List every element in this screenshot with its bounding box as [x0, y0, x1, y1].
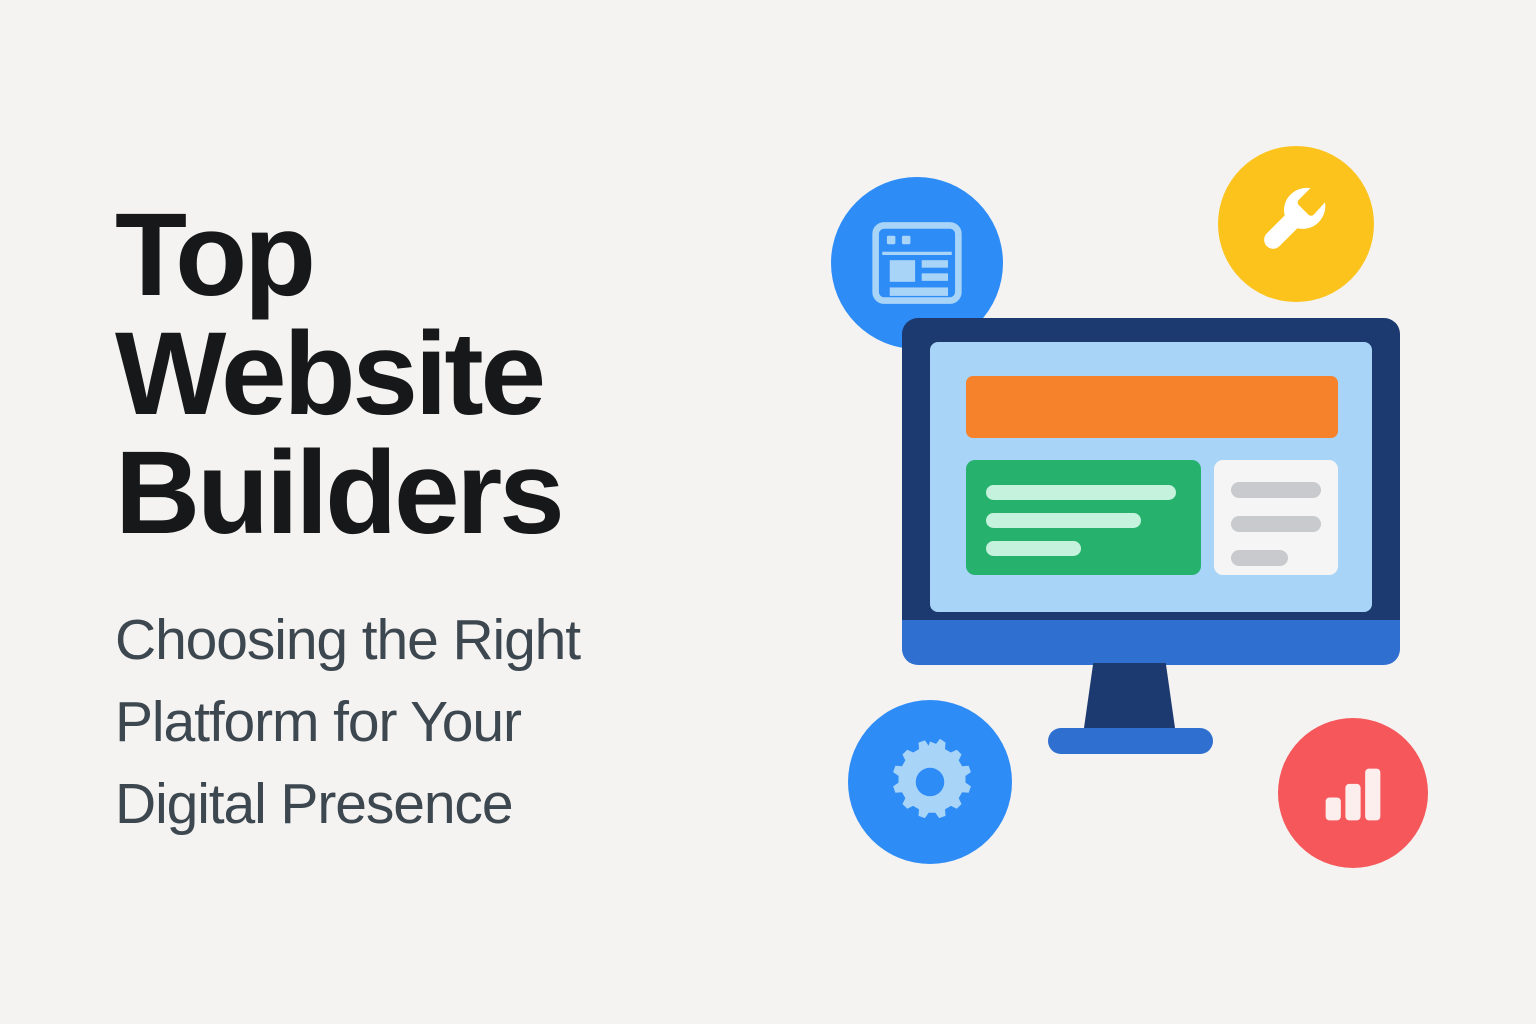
- sidebar-line: [1231, 516, 1321, 532]
- page-subtitle: Choosing the Right Platform for Your Dig…: [115, 553, 815, 845]
- hero-text-block: Top Website Builders Choosing the Right …: [115, 196, 815, 845]
- content-line: [986, 485, 1176, 500]
- content-line: [986, 541, 1081, 556]
- wrench-badge: [1218, 146, 1374, 302]
- gear-badge: [848, 700, 1012, 864]
- wrench-icon: [1254, 182, 1338, 266]
- hero-banner-canvas: Top Website Builders Choosing the Right …: [0, 0, 1536, 1024]
- hero-illustration: [800, 130, 1460, 890]
- gear-icon: [884, 736, 976, 828]
- sidebar-line: [1231, 482, 1321, 498]
- sidebar-line: [1231, 550, 1288, 566]
- bar-chart-badge: [1278, 718, 1428, 868]
- screen-sidebar-card: [1214, 460, 1338, 575]
- screen-content-card: [966, 460, 1201, 575]
- monitor-stand-base: [1048, 728, 1213, 754]
- screen-hero-banner: [966, 376, 1338, 438]
- content-line: [986, 513, 1141, 528]
- bar-chart-icon: [1315, 755, 1391, 831]
- page-title: Top Website Builders: [115, 196, 815, 553]
- monitor-chin: [902, 620, 1400, 665]
- monitor-stand-neck: [1083, 663, 1176, 735]
- browser-window-icon: [870, 216, 964, 310]
